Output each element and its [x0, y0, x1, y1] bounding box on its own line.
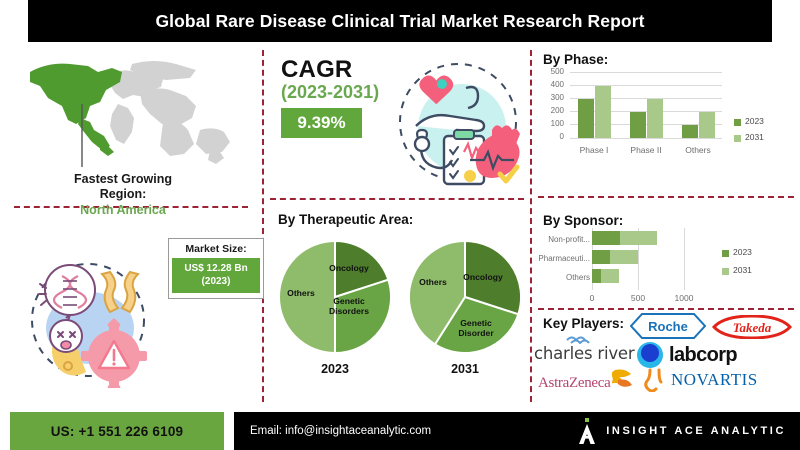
ytick-0: 0: [544, 132, 564, 141]
bar-non-profit-2031: [620, 231, 657, 245]
ytick-500: 500: [544, 67, 564, 76]
legend-swatch-2023-sponsor: [722, 250, 729, 257]
ytick-others-sponsor: Others: [536, 273, 590, 282]
divider-vertical-left: [262, 50, 264, 402]
market-size-value: US$ 12.28 Bn: [184, 263, 247, 274]
by-phase-title: By Phase:: [543, 52, 608, 67]
gridline-0: [570, 138, 722, 139]
pie-label-genetic-2031: GeneticDisorder: [448, 318, 504, 338]
xtick-sponsor-1000: 1000: [672, 293, 696, 303]
pie-caption-2023: 2023: [276, 362, 394, 376]
xtick-phase-ii: Phase II: [620, 145, 672, 155]
cagr-period: (2023-2031): [281, 82, 379, 103]
bar-phase-ii-2031: [647, 99, 663, 138]
divider-horizontal-right-2: [538, 308, 794, 310]
legend-label-2023-phase: 2023: [745, 116, 764, 126]
bar-others-2031: [699, 112, 715, 138]
region-title-line2: Region:: [100, 187, 147, 201]
pie-label-oncology-2023: Oncology: [320, 263, 378, 273]
bar-pharmaceutical-2031: [610, 250, 638, 264]
pie-chart-2031: [406, 238, 524, 361]
gridline-400: [570, 85, 722, 86]
therapeutic-area-title: By Therapeutic Area:: [278, 212, 413, 227]
divider-horizontal-right-1: [538, 196, 794, 198]
fastest-growing-region: Fastest Growing Region: North America: [8, 172, 238, 217]
world-map-icon: [14, 52, 246, 172]
divider-vertical-right: [530, 50, 532, 402]
bar-phase-i-2023: [578, 99, 594, 138]
footer-phone-text: US: +1 551 226 6109: [51, 424, 184, 439]
region-title-line1: Fastest Growing: [74, 172, 172, 186]
pie-label-oncology-2031: Oncology: [454, 272, 512, 282]
heart-healthcare-icon: [388, 52, 528, 192]
labcorp-mark-icon: [636, 341, 664, 369]
bar-non-profit-2023: [592, 231, 620, 245]
xtick-sponsor-0: 0: [580, 293, 604, 303]
astrazeneca-logo: AstraZeneca: [538, 368, 634, 392]
labcorp-logo: labcorp: [636, 341, 737, 369]
footer-brand-text: INSIGHT ACE ANALYTIC: [606, 425, 786, 437]
xtick-others: Others: [672, 145, 724, 155]
bar-others-sponsor-2031: [601, 269, 619, 283]
svg-text:Takeda: Takeda: [733, 320, 772, 335]
ytick-400: 400: [544, 80, 564, 89]
novartis-mark-icon: [644, 368, 666, 392]
report-header: Global Rare Disease Clinical Trial Marke…: [28, 0, 772, 42]
divider-horizontal-middle: [270, 198, 524, 200]
footer-brand: INSIGHT ACE ANALYTIC: [578, 412, 786, 450]
infographic-page: Global Rare Disease Clinical Trial Marke…: [0, 0, 800, 450]
takeda-logo: Takeda: [708, 315, 796, 344]
cagr-label: CAGR: [281, 56, 352, 84]
charles-river-text: charles river: [534, 344, 634, 363]
market-size-box: Market Size: US$ 12.28 Bn (2023): [168, 238, 264, 299]
key-players-title: Key Players:: [543, 316, 624, 331]
legend-label-2023-sponsor: 2023: [733, 247, 752, 257]
pie-label-genetic-2023: GeneticDisorders: [322, 296, 376, 316]
xtick-phase-i: Phase I: [568, 145, 620, 155]
legend-swatch-2031-sponsor: [722, 268, 729, 275]
footer-phone-button[interactable]: US: +1 551 226 6109: [10, 412, 224, 450]
ytick-100: 100: [544, 119, 564, 128]
legend-label-2031-sponsor: 2031: [733, 265, 752, 275]
charles-river-logo: charles river: [534, 334, 634, 363]
pie-caption-2031: 2031: [406, 362, 524, 376]
gridline-500: [570, 72, 722, 73]
roche-logo: Roche: [630, 313, 706, 344]
bar-pharmaceutical-2023: [592, 250, 610, 264]
pie-label-others-2031: Others: [412, 277, 454, 287]
ytick-300: 300: [544, 93, 564, 102]
legend-swatch-2031-phase: [734, 135, 741, 142]
region-name: North America: [8, 203, 238, 218]
cagr-value-badge: 9.39%: [281, 108, 362, 138]
insight-ace-logo-icon: [578, 418, 596, 444]
bar-others-2023: [682, 125, 698, 138]
footer-email[interactable]: Email: info@insightaceanalytic.com: [250, 425, 431, 437]
astrazeneca-text: AstraZeneca: [538, 375, 610, 392]
market-size-label: Market Size:: [172, 243, 260, 255]
market-size-value-badge: US$ 12.28 Bn (2023): [172, 258, 260, 293]
novartis-text: NOVARTIS: [671, 370, 758, 390]
market-size-year: (2023): [202, 276, 231, 287]
novartis-logo: NOVARTIS: [644, 368, 758, 392]
astrazeneca-mark-icon: [612, 368, 634, 392]
legend-label-2031-phase: 2031: [745, 132, 764, 142]
ytick-pharmaceutical: Pharmaceuti...: [536, 254, 590, 263]
by-sponsor-title: By Sponsor:: [543, 213, 623, 228]
bar-phase-i-2031: [595, 86, 611, 138]
pie-label-others-2023: Others: [281, 288, 321, 298]
bar-others-sponsor-2023: [592, 269, 601, 283]
genetic-disorder-icon: [18, 248, 158, 388]
cagr-value: 9.39%: [297, 113, 345, 133]
gridcol-1000: [684, 228, 685, 290]
labcorp-text: labcorp: [669, 344, 737, 367]
bar-phase-ii-2023: [630, 112, 646, 138]
legend-swatch-2023-phase: [734, 119, 741, 126]
svg-text:Roche: Roche: [648, 319, 688, 334]
ytick-200: 200: [544, 106, 564, 115]
page-title: Global Rare Disease Clinical Trial Marke…: [155, 11, 644, 32]
xtick-sponsor-500: 500: [626, 293, 650, 303]
ytick-non-profit: Non-profit...: [536, 235, 590, 244]
